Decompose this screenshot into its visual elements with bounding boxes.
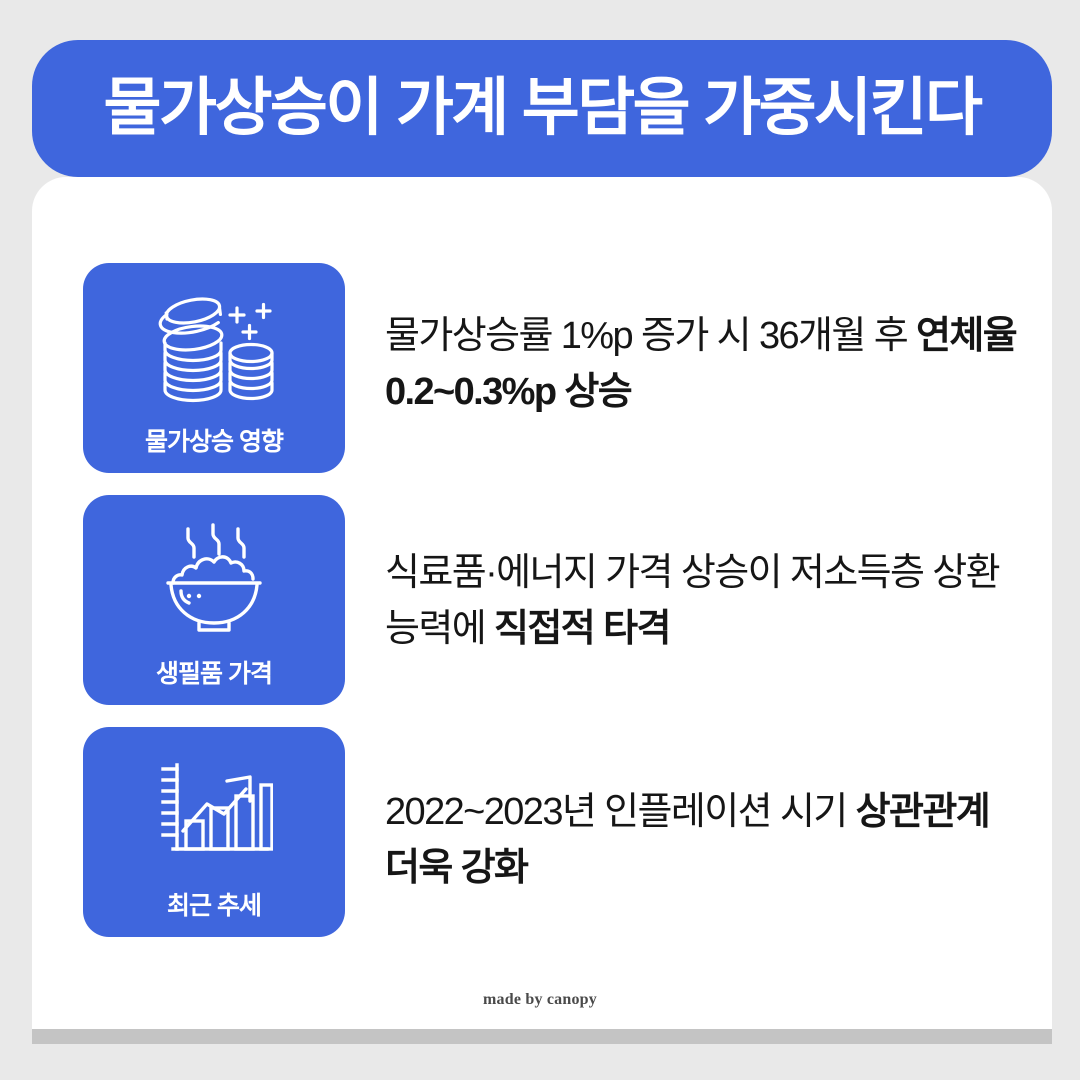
- fact-row: 물가상승 영향 물가상승률 1%p 증가 시 36개월 후 연체율 0.2~0.…: [83, 263, 1033, 473]
- coin-stacks-icon: [83, 263, 345, 430]
- icon-label: 물가상승 영향: [145, 430, 283, 455]
- icon-label: 최근 추세: [167, 894, 261, 919]
- footer-credit: made by canopy: [0, 991, 1080, 1009]
- rice-bowl-icon: [83, 495, 345, 662]
- fact-row-list: 물가상승 영향 물가상승률 1%p 증가 시 36개월 후 연체율 0.2~0.…: [83, 263, 1033, 937]
- infographic-card: 물가상승이 가계 부담을 가중시킨다: [0, 0, 1080, 1080]
- bar-chart-trend-icon: [83, 727, 345, 894]
- page-title: 물가상승이 가계 부담을 가중시킨다: [104, 75, 981, 141]
- icon-tile-recent-trend: 최근 추세: [83, 727, 345, 937]
- content-panel: 물가상승 영향 물가상승률 1%p 증가 시 36개월 후 연체율 0.2~0.…: [32, 177, 1052, 1029]
- icon-tile-price-impact: 물가상승 영향: [83, 263, 345, 473]
- header-banner: 물가상승이 가계 부담을 가중시킨다: [32, 40, 1052, 177]
- fact-text-lead: 2022~2023년 인플레이션 시기: [385, 791, 856, 833]
- fact-text-lead: 식료품·에너지 가격 상승이 저소득층 상환 능력에: [385, 552, 999, 650]
- fact-text-lead: 물가상승률 1%p 증가 시 36개월 후: [385, 315, 916, 357]
- fact-text: 2022~2023년 인플레이션 시기 상관관계 더욱 강화: [345, 727, 1033, 896]
- fact-row: 생필품 가격 식료품·에너지 가격 상승이 저소득층 상환 능력에 직접적 타격: [83, 495, 1033, 705]
- fact-text: 물가상승률 1%p 증가 시 36개월 후 연체율 0.2~0.3%p 상승: [345, 263, 1033, 420]
- fact-row: 최근 추세 2022~2023년 인플레이션 시기 상관관계 더욱 강화: [83, 727, 1033, 937]
- icon-label: 생필품 가격: [156, 662, 272, 687]
- fact-text-emphasis: 직접적 타격: [494, 608, 670, 650]
- fact-text: 식료품·에너지 가격 상승이 저소득층 상환 능력에 직접적 타격: [345, 495, 1033, 657]
- icon-tile-staples-price: 생필품 가격: [83, 495, 345, 705]
- card-base-strip: [32, 1029, 1052, 1044]
